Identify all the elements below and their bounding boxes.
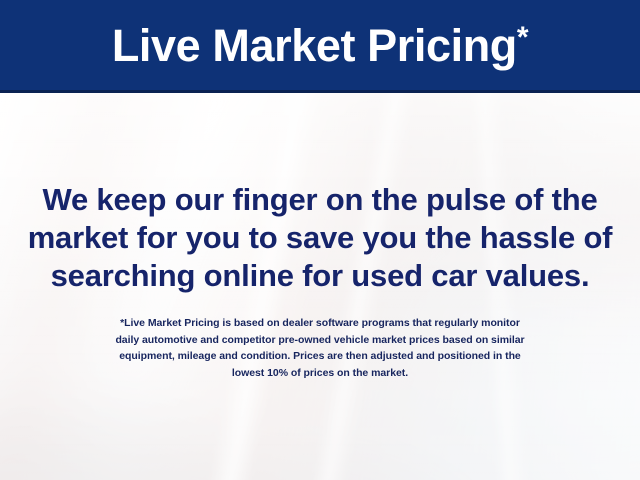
headline: We keep our finger on the pulse of the m… <box>0 181 640 295</box>
header-bar: Live Market Pricing* <box>0 0 640 93</box>
headline-line: We keep our finger on the pulse of the <box>16 181 624 219</box>
page-title-text: Live Market Pricing <box>112 20 517 71</box>
disclaimer-line: daily automotive and competitor pre-owne… <box>30 332 610 349</box>
disclaimer-text: *Live Market Pricing is based on dealer … <box>0 315 640 381</box>
page-title: Live Market Pricing* <box>112 23 528 68</box>
disclaimer-line: lowest 10% of prices on the market. <box>30 365 610 382</box>
headline-line: searching online for used car values. <box>16 257 624 295</box>
live-market-pricing-banner: Live Market Pricing* We keep our finger … <box>0 0 640 480</box>
content-area: We keep our finger on the pulse of the m… <box>0 93 640 480</box>
disclaimer-line: equipment, mileage and condition. Prices… <box>30 348 610 365</box>
page-title-asterisk: * <box>517 21 528 54</box>
disclaimer-line: *Live Market Pricing is based on dealer … <box>30 315 610 332</box>
headline-line: market for you to save you the hassle of <box>16 219 624 257</box>
